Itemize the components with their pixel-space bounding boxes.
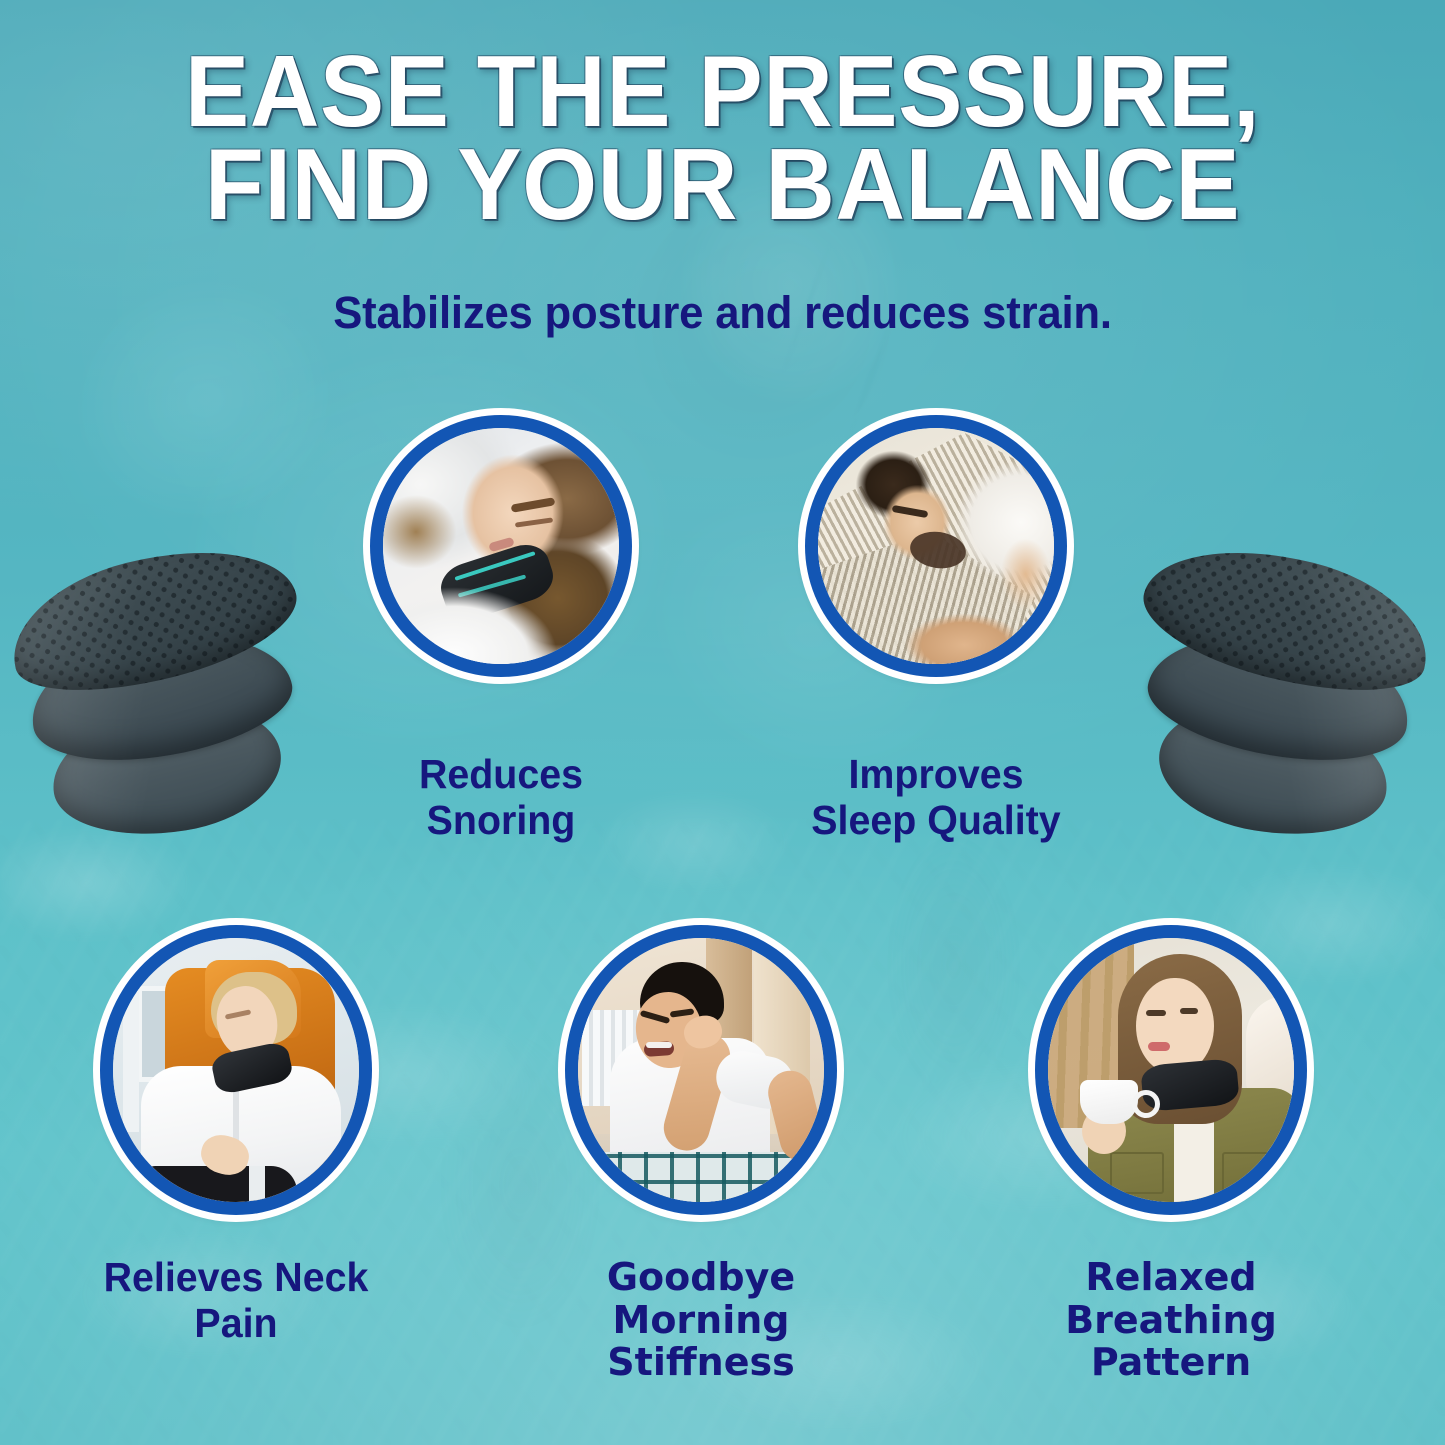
feature-caption-reduces-snoring: Reduces Snoring [347, 752, 654, 844]
caption-line-1: Reduces [347, 752, 654, 798]
feature-photo-reduces-snoring [383, 428, 619, 664]
page-title: EASE THE PRESSURE, FIND YOUR BALANCE [33, 46, 1413, 232]
feature-circle-relaxed-breathing-pattern[interactable] [1035, 925, 1307, 1215]
feature-photo-goodbye-morning-stiffness [578, 938, 824, 1202]
feature-circle-reduces-snoring[interactable] [370, 415, 632, 677]
feature-photo-relaxed-breathing-pattern [1048, 938, 1294, 1202]
feature-circle-improves-sleep-quality[interactable] [805, 415, 1067, 677]
caption-line-2: Snoring [347, 798, 654, 844]
page-subtitle: Stabilizes posture and reduces strain. [22, 287, 1424, 339]
feature-caption-improves-sleep-quality: Improves Sleep Quality [782, 752, 1089, 844]
product-infographic-poster: EASE THE PRESSURE, FIND YOUR BALANCE Sta… [0, 0, 1445, 1445]
feature-caption-relaxed-breathing-pattern: Relaxed Breathing Pattern [991, 1256, 1351, 1384]
caption-line-2: Stiffness [521, 1341, 881, 1384]
caption-line-2: Pattern [991, 1341, 1351, 1384]
caption-line-1: Improves [782, 752, 1089, 798]
feature-photo-improves-sleep-quality [818, 428, 1054, 664]
product-image-right [1124, 540, 1439, 855]
feature-caption-goodbye-morning-stiffness: Goodbye Morning Stiffness [521, 1256, 881, 1384]
feature-circle-goodbye-morning-stiffness[interactable] [565, 925, 837, 1215]
feature-caption-relieves-neck-pain: Relieves Neck Pain [82, 1255, 389, 1347]
caption-line-1: Relieves Neck [82, 1255, 389, 1301]
caption-line-2: Pain [82, 1301, 389, 1347]
headline-line-2: FIND YOUR BALANCE [33, 139, 1413, 232]
caption-line-1: Goodbye Morning [521, 1256, 881, 1341]
feature-photo-relieves-neck-pain [113, 938, 359, 1202]
product-image-left [0, 540, 315, 855]
feature-circle-relieves-neck-pain[interactable] [100, 925, 372, 1215]
caption-line-1: Relaxed Breathing [991, 1256, 1351, 1341]
caption-line-2: Sleep Quality [782, 798, 1089, 844]
